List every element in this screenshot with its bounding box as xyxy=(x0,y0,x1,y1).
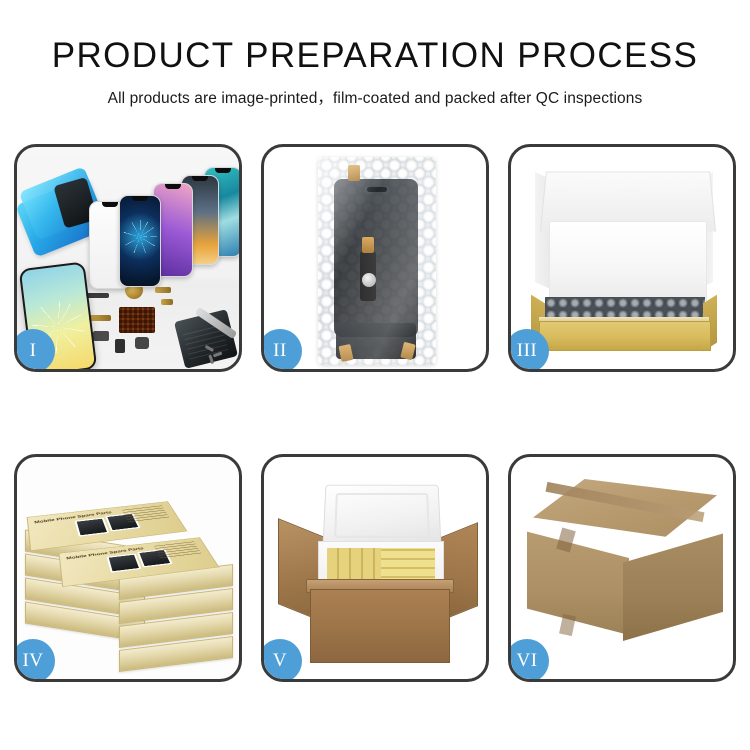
step-card-2[interactable]: II xyxy=(261,144,489,372)
camera-module-part xyxy=(93,331,109,341)
step-image-5: V xyxy=(264,457,486,679)
step-image-4: Mobile Phone Spare Parts Mobile Phone Sp… xyxy=(17,457,239,679)
step-card-6[interactable]: VI xyxy=(508,454,736,682)
phone-screen-fan xyxy=(89,165,239,285)
step-image-3: III xyxy=(511,147,733,369)
page-title: PRODUCT PREPARATION PROCESS xyxy=(0,38,750,75)
step-card-4[interactable]: Mobile Phone Spare Parts Mobile Phone Sp… xyxy=(14,454,242,682)
step-card-1[interactable]: I xyxy=(14,144,242,372)
carton-seam xyxy=(559,614,576,636)
page-header: PRODUCT PREPARATION PROCESS All products… xyxy=(0,0,750,108)
step-card-3[interactable]: III xyxy=(508,144,736,372)
phone-screen-cracked xyxy=(119,195,161,287)
page-subtitle: All products are image-printed，film-coat… xyxy=(0,86,750,108)
bubble-wrap-package xyxy=(318,157,436,365)
sealed-carton xyxy=(527,479,723,659)
carton-body xyxy=(310,589,450,663)
step-image-1: I xyxy=(17,147,239,369)
step-card-5[interactable]: V xyxy=(261,454,489,682)
box-stack: Mobile Phone Spare Parts Mobile Phone Sp… xyxy=(23,475,235,665)
connector-dot xyxy=(362,273,376,287)
open-kraft-box xyxy=(529,169,719,349)
product-window xyxy=(74,517,109,536)
open-carton-with-foam xyxy=(278,477,478,667)
spec-lines xyxy=(154,541,202,559)
spec-lines xyxy=(122,505,170,523)
camera-cutout xyxy=(367,187,387,192)
connector-board-part xyxy=(119,307,155,333)
step-badge-2: II xyxy=(264,329,302,369)
foam-sheet xyxy=(549,221,707,301)
tape-strip xyxy=(348,165,360,181)
process-step-grid: I II xyxy=(14,144,736,682)
spare-parts-group xyxy=(83,279,239,369)
carton-face-left xyxy=(527,525,629,635)
flex-cable-part xyxy=(161,299,173,305)
earpiece-part xyxy=(135,337,149,349)
flex-cable-part xyxy=(155,287,171,293)
screws-group xyxy=(205,347,231,363)
flex-cable-part xyxy=(89,315,111,321)
foam-cooler-lid xyxy=(322,485,441,547)
box-front-panel xyxy=(539,321,711,351)
product-window xyxy=(106,553,141,572)
step-image-6: VI xyxy=(511,457,733,679)
carton-face-right xyxy=(623,529,723,641)
wrapped-screen xyxy=(334,179,418,337)
battery-connector-part xyxy=(115,339,125,353)
tape-strip xyxy=(362,237,374,253)
step-image-2: II xyxy=(264,147,486,369)
